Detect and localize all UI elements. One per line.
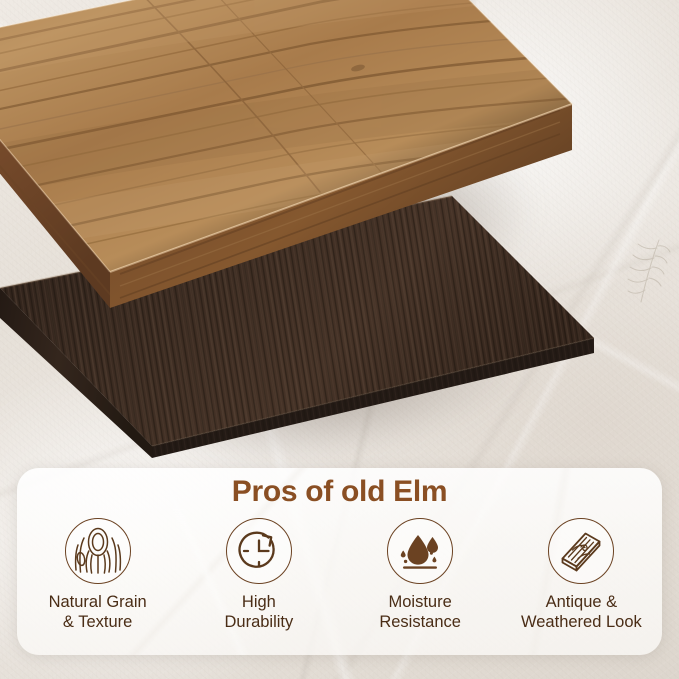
feature-label: Moisture Resistance: [379, 593, 461, 633]
product-infographic: Pros of old Elm: [0, 0, 679, 679]
feature-list: Natural Grain & Texture High: [17, 518, 662, 633]
water-droplet-icon: [387, 518, 453, 584]
clock-durability-icon: [226, 518, 292, 584]
feature-label: Antique & Weathered Look: [521, 593, 642, 633]
pros-info-card: Pros of old Elm: [17, 468, 662, 655]
wood-grain-icon: [65, 518, 131, 584]
feature-label: Natural Grain & Texture: [49, 593, 147, 633]
feature-antique-weathered[interactable]: Antique & Weathered Look: [501, 518, 662, 633]
feature-high-durability[interactable]: High Durability: [178, 518, 339, 633]
feature-moisture-resistance[interactable]: Moisture Resistance: [340, 518, 501, 633]
light-walnut-board: [0, 0, 580, 322]
page-title: Pros of old Elm: [17, 475, 662, 509]
feature-natural-grain[interactable]: Natural Grain & Texture: [17, 518, 178, 633]
feature-label: High Durability: [224, 593, 293, 633]
wood-plank-icon: [548, 518, 614, 584]
